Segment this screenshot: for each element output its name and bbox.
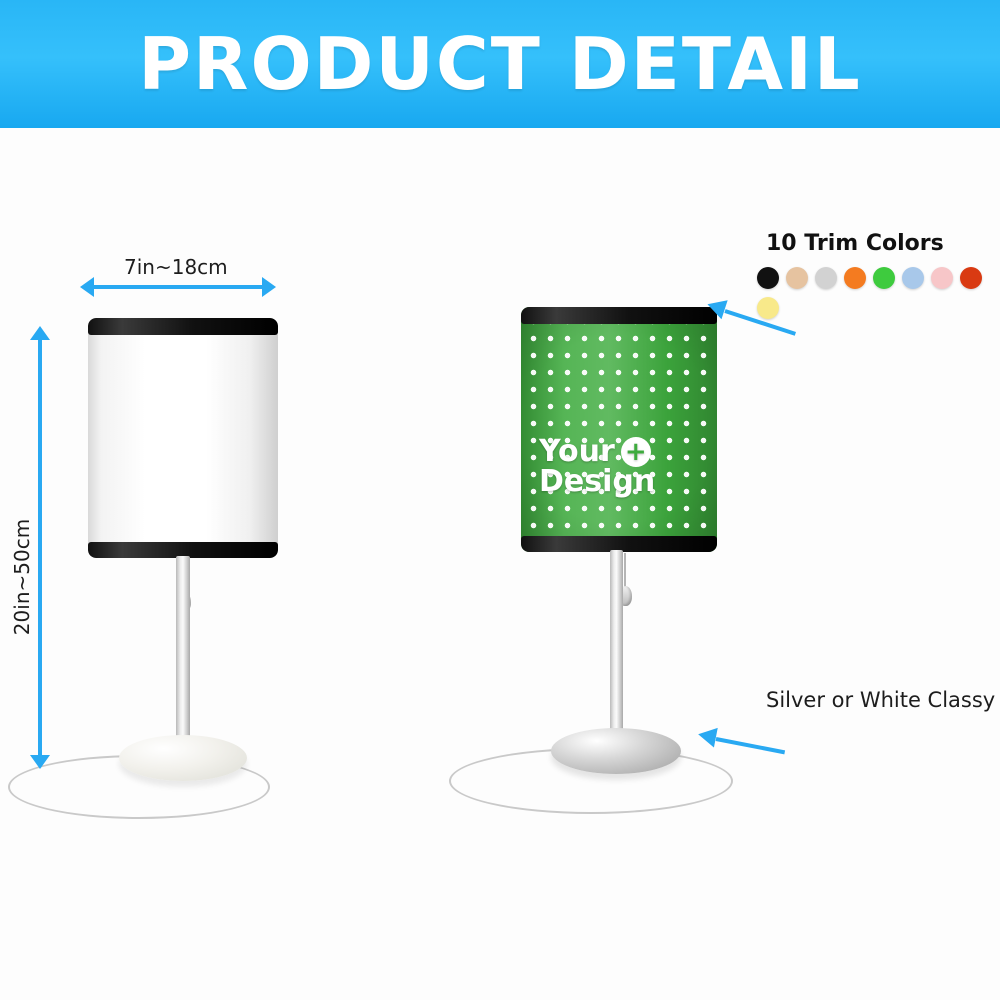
swatch-light-blue[interactable] (902, 267, 924, 289)
swatch-orange[interactable] (844, 267, 866, 289)
green-lamp-pole (610, 550, 623, 750)
header-banner: PRODUCT DETAIL (0, 0, 1000, 128)
width-label: 7in~18cm (124, 255, 228, 279)
white-lamp-top-trim (88, 318, 278, 335)
white-lamp-pole (176, 556, 190, 756)
plus-icon: + (621, 437, 651, 467)
trim-arrow-head (704, 295, 727, 320)
width-arrow-left-head (80, 277, 94, 297)
height-label: 20in~50cm (10, 519, 34, 635)
swatch-tan[interactable] (786, 267, 808, 289)
swatch-black[interactable] (757, 267, 779, 289)
white-lamp-base (119, 735, 247, 781)
height-arrow-line (38, 340, 42, 760)
width-arrow-right-head (262, 277, 276, 297)
product-detail-canvas: PRODUCT DETAIL 7in~18cm 20in~50cm (0, 0, 1000, 1000)
height-arrow-bottom-head (30, 755, 50, 769)
base-finish-arrow-head (696, 724, 717, 747)
green-lamp-top-trim (521, 307, 717, 324)
your-design-line1: Your (539, 437, 615, 467)
green-lamp-shade: Your + Design (521, 307, 717, 552)
trim-colors-arrow (707, 290, 797, 330)
base-finish-arrow (698, 718, 788, 758)
height-arrow-top-head (30, 326, 50, 340)
swatch-green[interactable] (873, 267, 895, 289)
page-title: PRODUCT DETAIL (138, 28, 862, 100)
your-design-line2: Design (539, 467, 655, 497)
trim-colors-title: 10 Trim Colors (766, 231, 944, 256)
your-design-placeholder: Your + Design (539, 437, 699, 497)
trim-arrow-line (724, 309, 796, 336)
base-finish-label: Silver or White Classy (766, 688, 995, 712)
swatch-pink[interactable] (931, 267, 953, 289)
green-lamp-base (551, 728, 681, 774)
swatch-red[interactable] (960, 267, 982, 289)
width-arrow-line (92, 285, 268, 289)
white-lamp-shade (88, 318, 278, 558)
polka-dot-pattern (521, 307, 717, 552)
swatch-light-gray[interactable] (815, 267, 837, 289)
base-finish-arrow-line (716, 737, 785, 754)
